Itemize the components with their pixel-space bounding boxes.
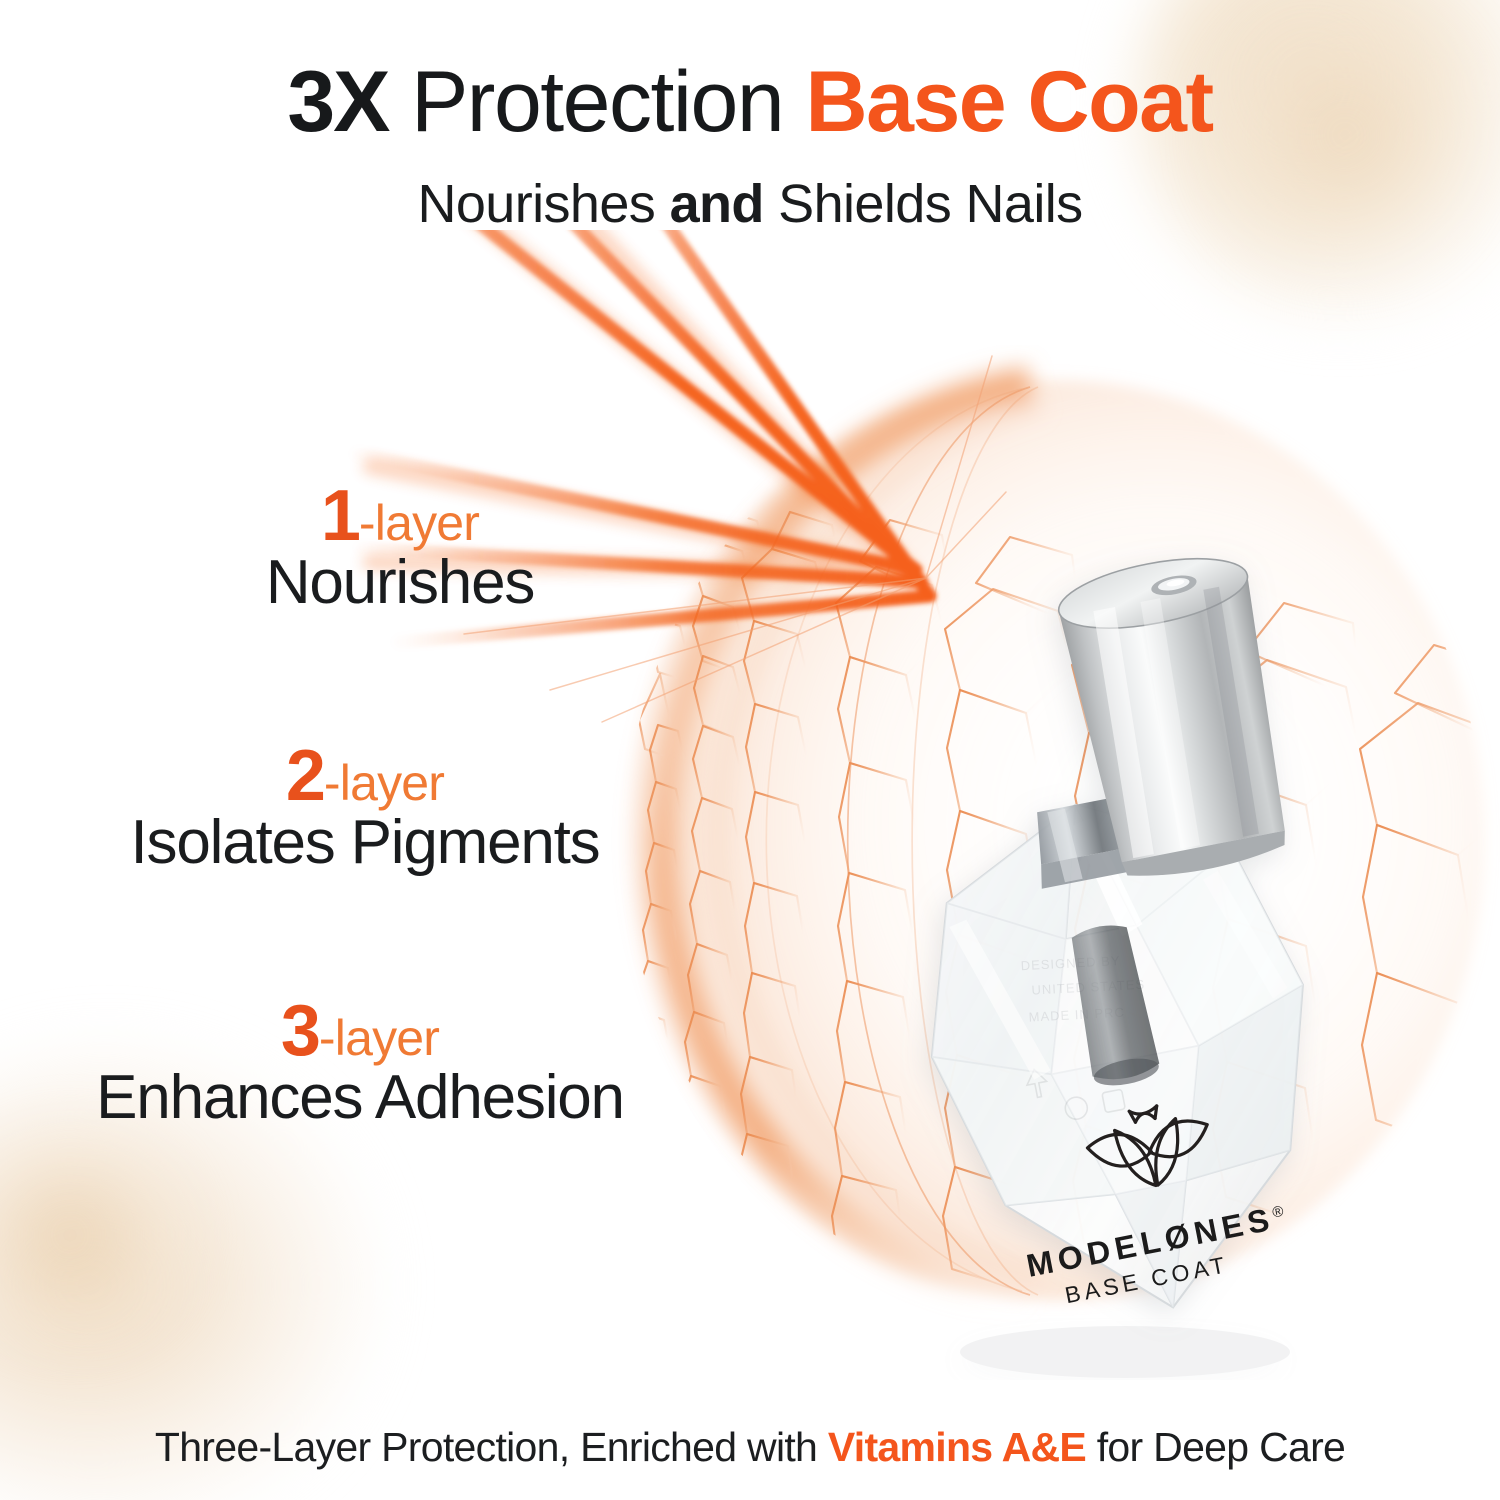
feature-2-label: Isolates Pigments <box>20 810 710 875</box>
feature-3-kicker: 3-layer <box>0 995 720 1067</box>
svg-text:DESIGNED BY: DESIGNED BY <box>1020 953 1121 973</box>
svg-text:UNITED STATES: UNITED STATES <box>1031 977 1145 998</box>
headline-accent: Base Coat <box>806 54 1213 150</box>
brand-name-text: MODELØNES <box>1023 1201 1276 1284</box>
bottle-label: MODELØNES® BASE COAT <box>1024 1207 1262 1315</box>
footer-caption: Three-Layer Protection, Enriched with Vi… <box>0 1424 1500 1471</box>
headline-emphasis: 3X <box>287 54 388 150</box>
feature-item-2: 2-layer Isolates Pigments <box>20 740 710 875</box>
marketing-graphic: DESIGNED BY UNITED STATES MADE IN PRC <box>0 0 1500 1500</box>
page-title: 3X Protection Base Coat <box>0 58 1500 147</box>
feature-2-number: 2 <box>286 736 324 816</box>
caption-accent: Vitamins A&E <box>828 1424 1086 1470</box>
feature-item-1: 1-layer Nourishes <box>90 480 710 615</box>
background-blur-bottom-left-inner <box>0 1120 200 1350</box>
svg-text:MADE IN PRC: MADE IN PRC <box>1028 1005 1125 1025</box>
feature-1-kicker: 1-layer <box>90 480 710 552</box>
brand-name: MODELØNES® <box>1024 1207 1256 1284</box>
subtitle-part-1: Nourishes <box>417 174 669 234</box>
trademark-symbol: ® <box>1271 1203 1285 1222</box>
headline-middle: Protection <box>389 54 806 150</box>
subtitle-part-3: Shields Nails <box>764 174 1083 234</box>
page-subtitle: Nourishes and Shields Nails <box>0 175 1500 234</box>
feature-3-suffix: -layer <box>319 1010 439 1066</box>
caption-part-1: Three-Layer Protection, Enriched with <box>155 1424 828 1470</box>
feature-1-label: Nourishes <box>90 550 710 615</box>
feature-item-3: 3-layer Enhances Adhesion <box>0 995 720 1130</box>
product-bottle: DESIGNED BY UNITED STATES MADE IN PRC <box>900 500 1370 1380</box>
feature-3-number: 3 <box>281 991 319 1071</box>
feature-3-label: Enhances Adhesion <box>0 1065 720 1130</box>
feature-1-number: 1 <box>321 476 359 556</box>
subtitle-emphasis: and <box>670 174 764 234</box>
product-variant: BASE COAT <box>1031 1245 1262 1315</box>
caption-part-3: for Deep Care <box>1086 1424 1345 1470</box>
background-blur-top-right <box>1130 0 1500 320</box>
brand-logo-icon <box>1065 1077 1235 1223</box>
feature-2-kicker: 2-layer <box>20 740 710 812</box>
feature-1-suffix: -layer <box>359 495 479 551</box>
feature-2-suffix: -layer <box>324 755 444 811</box>
